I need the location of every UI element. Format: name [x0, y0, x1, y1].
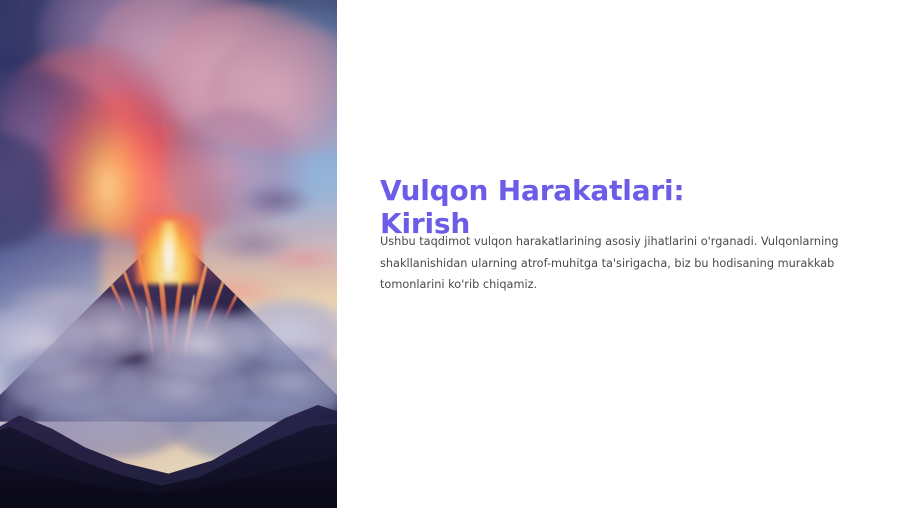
- content-panel: Vulqon Harakatlari: Kirish Ushbu taqdimo…: [337, 0, 900, 508]
- plume-hot-core: [46, 76, 171, 234]
- lava-fountain-core: [158, 221, 178, 272]
- sky-cloud: [263, 244, 337, 274]
- body-paragraph: Ushbu taqdimot vulqon harakatlarining as…: [380, 231, 850, 296]
- volcano-illustration: [0, 0, 337, 508]
- title-block: Vulqon Harakatlari: Kirish: [380, 175, 850, 237]
- slide-canvas: Vulqon Harakatlari: Kirish Ushbu taqdimo…: [0, 0, 900, 508]
- body-block: Ushbu taqdimot vulqon harakatlarining as…: [380, 231, 850, 296]
